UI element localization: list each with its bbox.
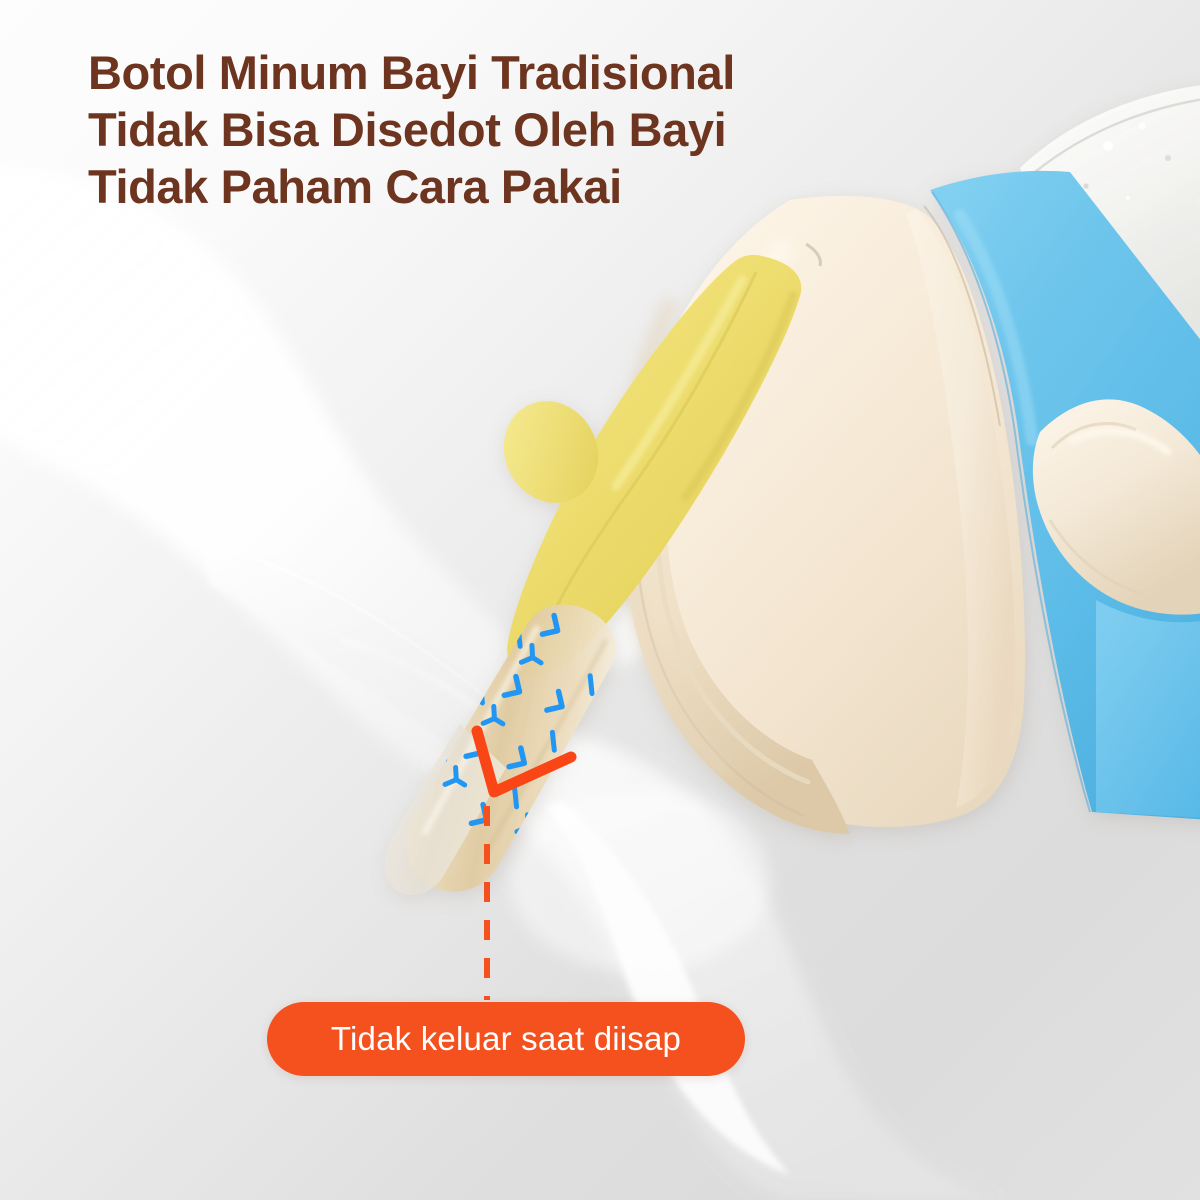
straw-tip: [385, 724, 506, 895]
cap-inner-shade: [625, 300, 726, 772]
nipple-cap-gap: [806, 244, 820, 266]
headline-line-1: Botol Minum Bayi Tradisional: [88, 44, 888, 101]
bottle-cap-facet: [906, 208, 1015, 808]
bottle-bubble: [1165, 155, 1171, 161]
nipple-shade: [684, 292, 794, 500]
sleeve-seam: [932, 192, 1090, 812]
headline: Botol Minum Bayi Tradisional Tidak Bisa …: [88, 44, 888, 215]
bottle-cap-body: [622, 196, 1025, 827]
milk-haze: [510, 788, 770, 972]
bottle-transparent-top: [1020, 84, 1200, 360]
nipple-bulb: [487, 385, 615, 519]
bottle-straw: [385, 605, 616, 895]
callout-badge-label: Tidak keluar saat diisap: [331, 1020, 681, 1058]
cap-seam: [924, 206, 1000, 426]
collar-edge: [637, 428, 804, 816]
bottle-blue-sleeve: [930, 171, 1200, 820]
bottle-bubble: [1103, 141, 1113, 151]
straw-edge-shade: [486, 640, 606, 852]
handle-shade: [1050, 520, 1142, 594]
headline-line-2: Tidak Bisa Disedot Oleh Bayi: [88, 101, 888, 158]
product-ad-poster: Botol Minum Bayi Tradisional Tidak Bisa …: [0, 0, 1200, 1200]
handle-shade: [1052, 424, 1136, 448]
milk-splash-fold: [340, 640, 556, 788]
bottle-handle: [1033, 399, 1200, 614]
flow-blocker: [477, 731, 571, 792]
milk-splash-highlight: [208, 545, 548, 757]
collar-highlight: [658, 438, 808, 782]
straw-tube: [406, 605, 616, 892]
milk-droplet: [550, 596, 654, 668]
milk-splash-upper: [0, 166, 570, 797]
bottle-top-rim: [1035, 98, 1200, 172]
handle-gloss: [1072, 431, 1168, 452]
sleeve-lower-piece: [1096, 600, 1200, 818]
callout-badge[interactable]: Tidak keluar saat diisap: [267, 1002, 745, 1076]
nipple-crease: [542, 272, 756, 640]
bottle-collar-ring: [625, 416, 850, 834]
bottle-bubble: [1126, 196, 1130, 200]
sleeve-gloss: [960, 215, 1032, 440]
milk-splash-tendril: [200, 540, 541, 776]
milk-splash-lower-lobe: [545, 800, 790, 1175]
straw-gloss: [424, 626, 538, 834]
bottle-bubble: [1083, 183, 1088, 188]
flow-arrows-group: [397, 591, 711, 902]
nipple-gloss: [616, 280, 742, 486]
milk-splash-lower-wave: [430, 728, 1000, 1200]
cap-gloss: [692, 250, 782, 468]
bottle-nipple: [507, 255, 801, 676]
bottle-bubble: [1139, 123, 1146, 130]
headline-line-3: Tidak Paham Cara Pakai: [88, 158, 888, 215]
